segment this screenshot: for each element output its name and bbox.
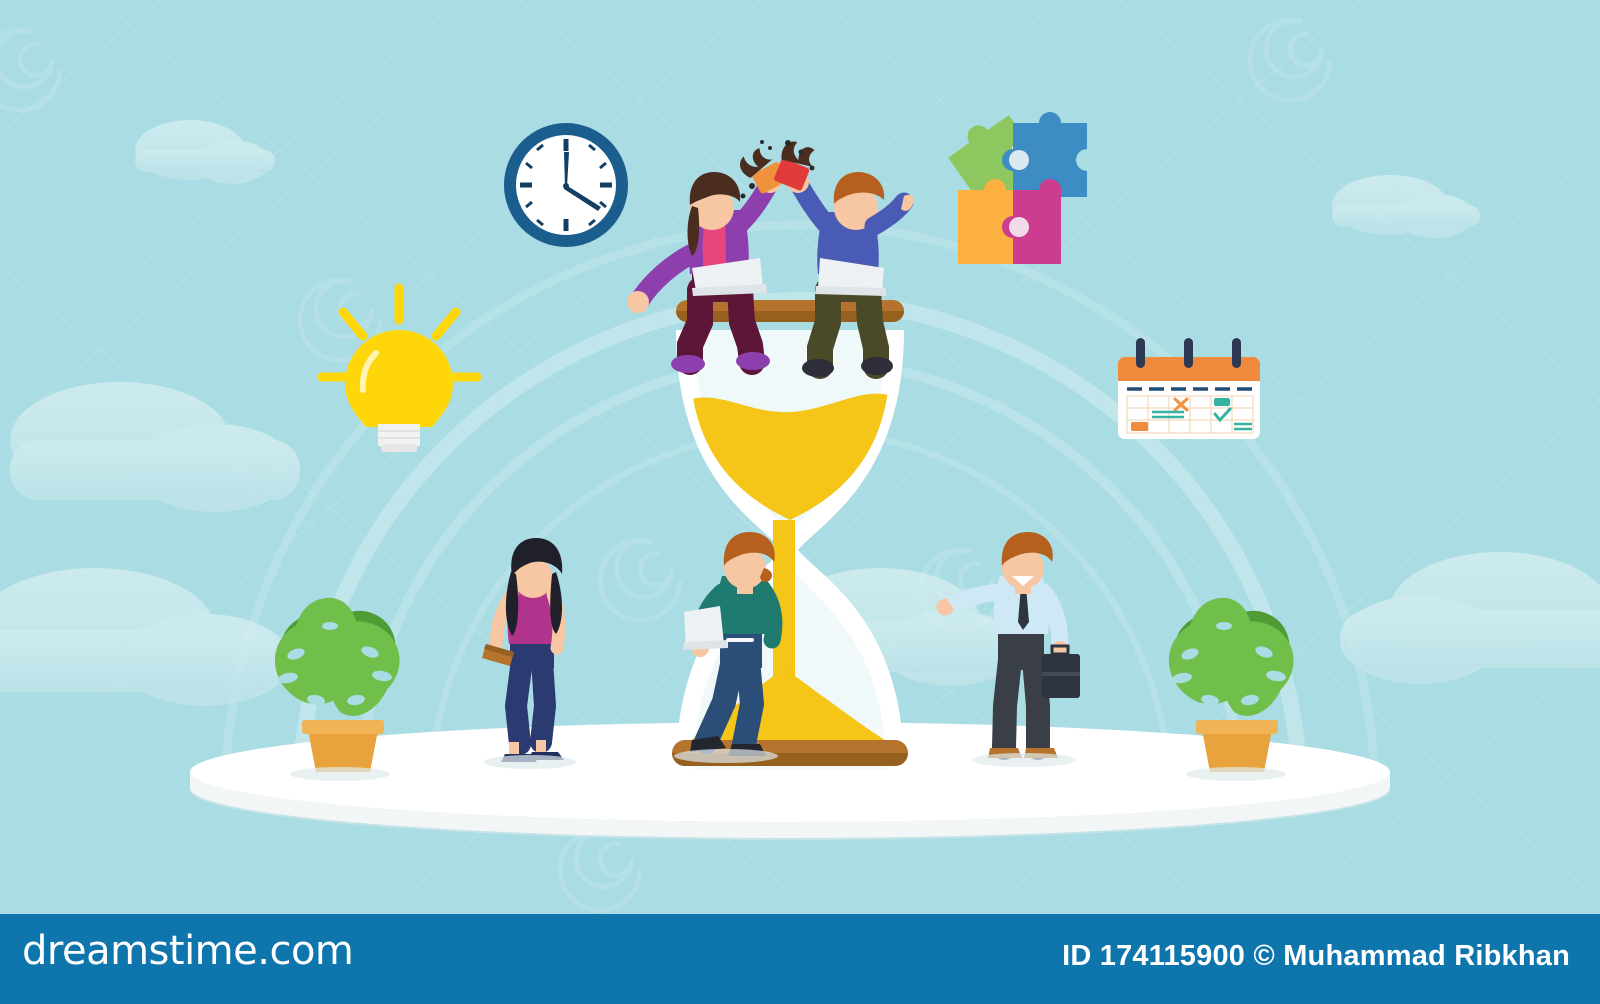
pot (1202, 730, 1272, 772)
scene-graphic (0, 0, 1600, 1004)
shoe-left (802, 359, 834, 377)
pot-rim (302, 720, 384, 734)
lightbulb-base (378, 424, 420, 446)
shoe-left (671, 355, 705, 373)
brand-text: dreamstime.com (22, 928, 353, 974)
pot-rim (1196, 720, 1278, 734)
illustration-canvas: dreamstime.com ID 174115900 © Muhammad R… (0, 0, 1600, 1004)
wall-clock-icon (504, 123, 628, 247)
dreamstime-logo[interactable]: dreamstime.com (22, 928, 353, 974)
calendar-icon (1118, 338, 1260, 439)
pot (308, 730, 378, 772)
shoe-right (861, 357, 893, 375)
image-credit: ID 174115900 © Muhammad Ribkhan (1062, 940, 1570, 973)
shoe-right (736, 352, 770, 370)
calendar-teal-block (1214, 398, 1230, 406)
calendar-orange-block (1131, 422, 1148, 431)
footer-bar: dreamstime.com ID 174115900 © Muhammad R… (0, 914, 1600, 1004)
